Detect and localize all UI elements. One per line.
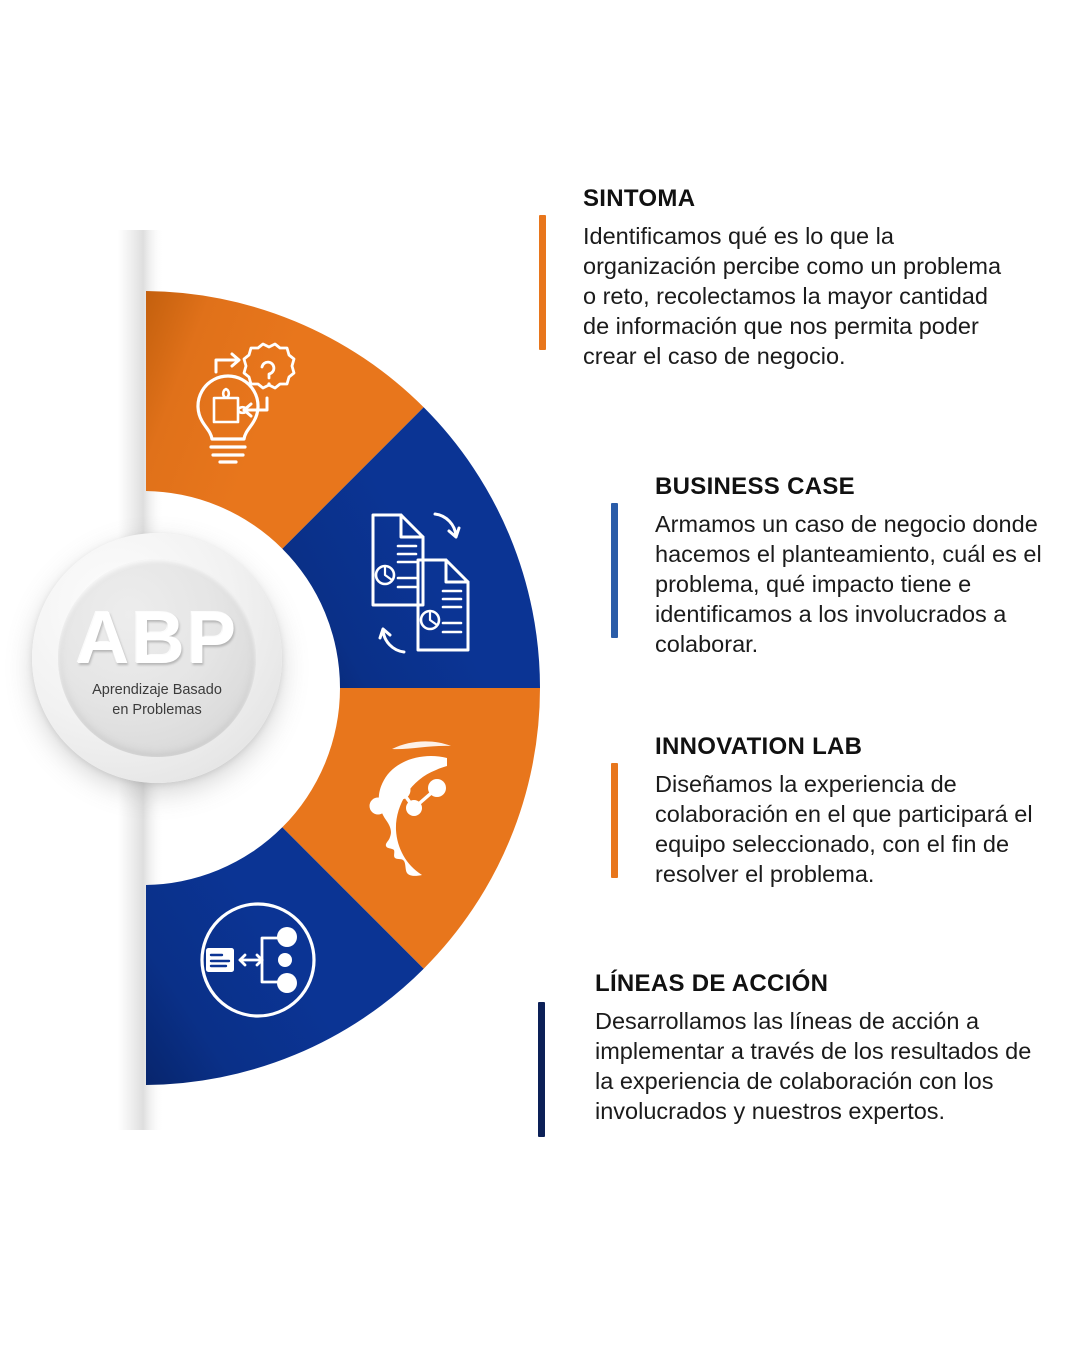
step-block-business-case: BUSINESS CASE Armamos un caso de negocio… [655,473,1075,659]
step-title-sintoma: SINTOMA [583,185,1003,213]
accent-bar-lineas-de-accion [538,1002,545,1137]
step-body-business-case: Armamos un caso de negocio donde hacemos… [655,509,1075,659]
step-title-lineas-de-accion: LÍNEAS DE ACCIÓN [595,970,1050,998]
accent-bar-business-case [611,503,618,638]
step-body-innovation-lab: Diseñamos la experiencia de colaboración… [655,769,1075,889]
accent-bar-sintoma [539,215,546,350]
step-block-lineas-de-accion: LÍNEAS DE ACCIÓN Desarrollamos las línea… [595,970,1050,1126]
infographic-canvas: ABP Aprendizaje Basado en Problemas SINT… [0,0,1080,1350]
steps-list: SINTOMA Identificamos qué es lo que la o… [0,0,1080,1350]
step-block-sintoma: SINTOMA Identificamos qué es lo que la o… [583,185,1003,371]
step-title-business-case: BUSINESS CASE [655,473,1075,501]
step-title-innovation-lab: INNOVATION LAB [655,733,1075,761]
accent-bar-innovation-lab [611,763,618,878]
step-body-sintoma: Identificamos qué es lo que la organizac… [583,221,1003,371]
step-block-innovation-lab: INNOVATION LAB Diseñamos la experiencia … [655,733,1075,889]
step-body-lineas-de-accion: Desarrollamos las líneas de acción a imp… [595,1006,1050,1126]
